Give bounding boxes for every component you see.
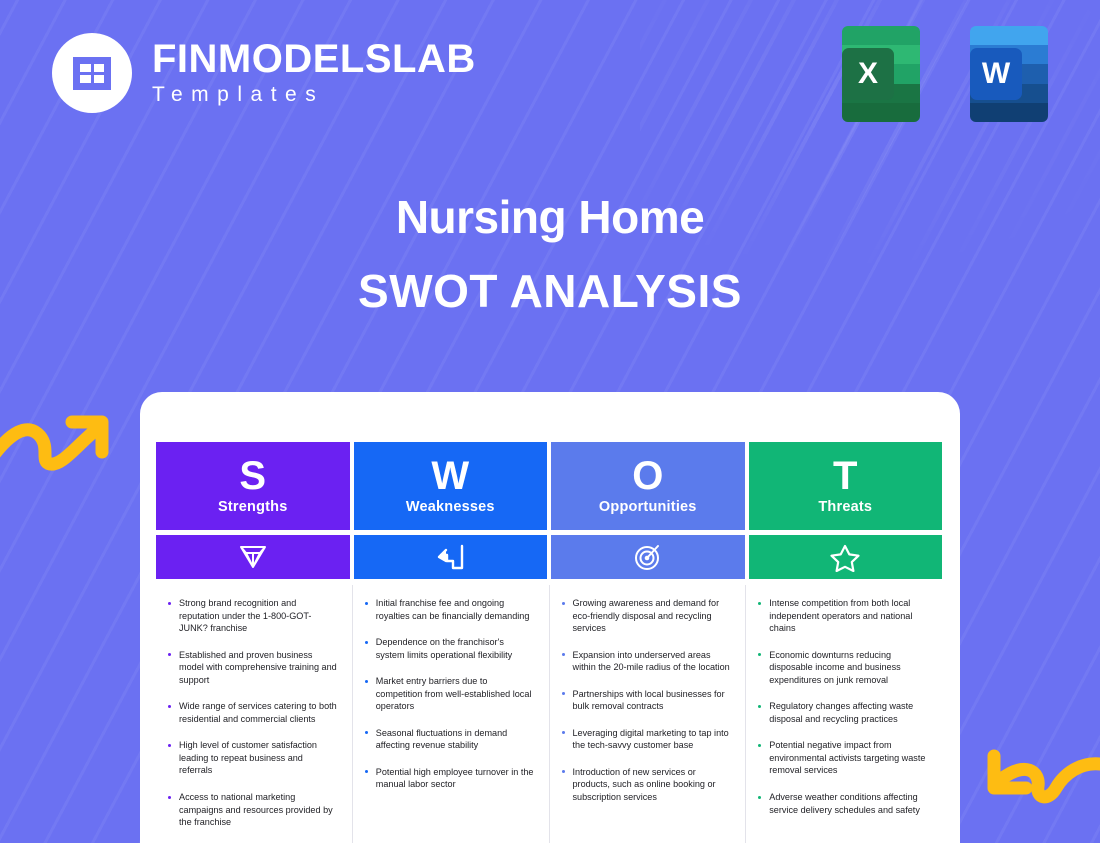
swot-label-threats: Threats bbox=[818, 499, 872, 515]
brand-name: FINMODELSLAB bbox=[152, 38, 476, 80]
logo-circle bbox=[52, 33, 132, 113]
list-item: Established and proven business model wi… bbox=[166, 649, 338, 687]
swot-letter-o: O bbox=[632, 457, 663, 495]
list-item: Initial franchise fee and ongoing royalt… bbox=[363, 597, 535, 622]
swot-label-strengths: Strengths bbox=[218, 499, 287, 515]
swot-table: S Strengths W Weaknesses O Opportunities… bbox=[156, 442, 942, 843]
list-item: Access to national marketing campaigns a… bbox=[166, 791, 338, 829]
swot-header-weaknesses[interactable]: W Weaknesses bbox=[354, 442, 548, 530]
title-line-2: SWOT ANALYSIS bbox=[0, 263, 1100, 321]
list-item: Market entry barriers due to competition… bbox=[363, 675, 535, 713]
target-bullseye-icon bbox=[633, 542, 663, 572]
brand-subtitle: Templates bbox=[152, 82, 476, 107]
weaknesses-list: Initial franchise fee and ongoing royalt… bbox=[363, 597, 535, 791]
excel-badge: X bbox=[842, 48, 894, 100]
grid-squares-icon bbox=[73, 57, 111, 90]
declining-stairs-arrow-icon bbox=[435, 543, 465, 571]
list-item: Introduction of new services or products… bbox=[560, 766, 732, 804]
title-line-1: Nursing Home bbox=[0, 190, 1100, 245]
list-item: High level of customer satisfaction lead… bbox=[166, 739, 338, 777]
list-item: Strong brand recognition and reputation … bbox=[166, 597, 338, 635]
list-item: Intense competition from both local inde… bbox=[756, 597, 928, 635]
swot-label-weaknesses: Weaknesses bbox=[406, 499, 495, 515]
swot-letter-w: W bbox=[431, 457, 469, 495]
swot-icon-cell-opportunities bbox=[551, 535, 745, 579]
list-item: Potential high employee turnover in the … bbox=[363, 766, 535, 791]
squiggle-arrow-up-right-icon bbox=[0, 398, 128, 478]
star-outline-icon bbox=[830, 543, 860, 572]
swot-label-opportunities: Opportunities bbox=[599, 499, 697, 515]
swot-column-weaknesses: Initial franchise fee and ongoing royalt… bbox=[352, 585, 549, 843]
list-item: Dependence on the franchisor's system li… bbox=[363, 636, 535, 661]
word-badge: W bbox=[970, 48, 1022, 100]
swot-body-row: Strong brand recognition and reputation … bbox=[156, 585, 942, 843]
swot-header-row: S Strengths W Weaknesses O Opportunities… bbox=[156, 442, 942, 530]
list-item: Economic downturns reducing disposable i… bbox=[756, 649, 928, 687]
swot-icon-cell-strengths bbox=[156, 535, 350, 579]
diamond-icon bbox=[238, 544, 268, 570]
opportunities-list: Growing awareness and demand for eco-fri… bbox=[560, 597, 732, 804]
swot-column-threats: Intense competition from both local inde… bbox=[745, 585, 942, 843]
office-format-icons: X W bbox=[842, 26, 1048, 122]
brand-text: FINMODELSLAB Templates bbox=[152, 38, 476, 107]
strengths-list: Strong brand recognition and reputation … bbox=[166, 597, 338, 829]
page-title: Nursing Home SWOT ANALYSIS bbox=[0, 190, 1100, 321]
excel-icon: X bbox=[842, 26, 920, 122]
list-item: Potential negative impact from environme… bbox=[756, 739, 928, 777]
list-item: Expansion into underserved areas within … bbox=[560, 649, 732, 674]
word-icon: W bbox=[970, 26, 1048, 122]
swot-letter-t: T bbox=[833, 457, 857, 495]
swot-card: S Strengths W Weaknesses O Opportunities… bbox=[140, 392, 960, 843]
swot-column-strengths: Strong brand recognition and reputation … bbox=[156, 585, 352, 843]
threats-list: Intense competition from both local inde… bbox=[756, 597, 928, 816]
swot-analysis-poster: FINMODELSLAB Templates X W Nursing Home … bbox=[0, 0, 1100, 843]
brand-logo: FINMODELSLAB Templates bbox=[52, 33, 476, 113]
swot-column-opportunities: Growing awareness and demand for eco-fri… bbox=[549, 585, 746, 843]
list-item: Growing awareness and demand for eco-fri… bbox=[560, 597, 732, 635]
swot-header-opportunities[interactable]: O Opportunities bbox=[551, 442, 745, 530]
list-item: Leveraging digital marketing to tap into… bbox=[560, 727, 732, 752]
list-item: Partnerships with local businesses for b… bbox=[560, 688, 732, 713]
swot-icon-cell-threats bbox=[749, 535, 943, 579]
list-item: Adverse weather conditions affecting ser… bbox=[756, 791, 928, 816]
list-item: Wide range of services catering to both … bbox=[166, 700, 338, 725]
swot-header-strengths[interactable]: S Strengths bbox=[156, 442, 350, 530]
list-item: Seasonal fluctuations in demand affectin… bbox=[363, 727, 535, 752]
swot-letter-s: S bbox=[239, 457, 266, 495]
list-item: Regulatory changes affecting waste dispo… bbox=[756, 700, 928, 725]
swot-header-threats[interactable]: T Threats bbox=[749, 442, 943, 530]
swot-icon-row bbox=[156, 535, 942, 579]
swot-icon-cell-weaknesses bbox=[354, 535, 548, 579]
squiggle-arrow-down-left-icon bbox=[964, 748, 1100, 838]
